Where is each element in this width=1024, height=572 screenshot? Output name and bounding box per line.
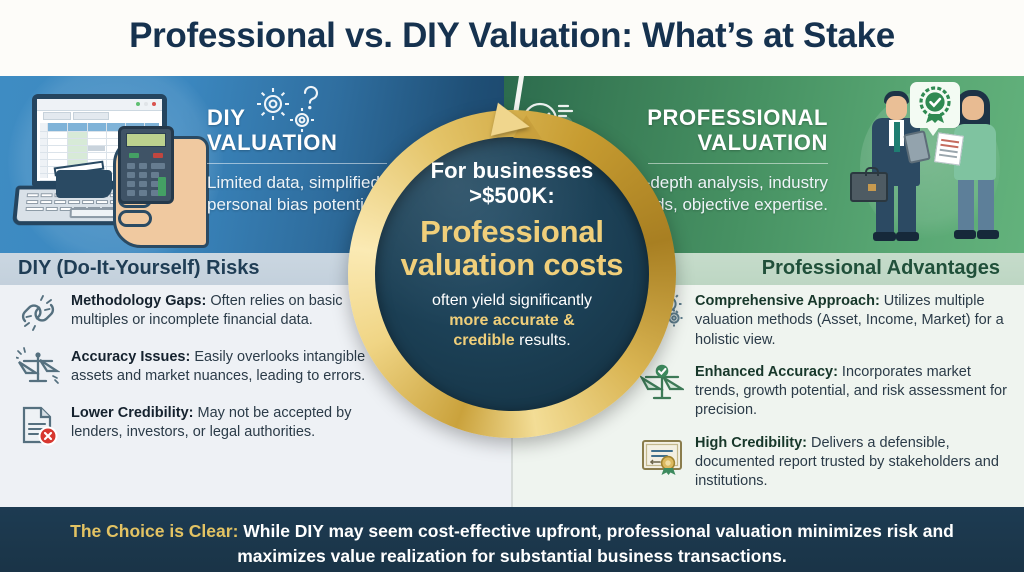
list-item: Enhanced Accuracy: Incorporates market t… bbox=[640, 362, 1012, 421]
pro-title-line2: VALUATION bbox=[698, 130, 828, 155]
infographic-canvas: Professional vs. DIY Valuation: What’s a… bbox=[0, 0, 1024, 572]
suit-sleeve bbox=[56, 170, 112, 198]
callout-tail1: often yield significantly bbox=[432, 292, 592, 309]
diy-title-line2: VALUATION bbox=[207, 130, 337, 155]
list-item-text: Methodology Gaps: Often relies on basic … bbox=[71, 291, 388, 335]
certified-badge-icon bbox=[910, 82, 960, 128]
callout-highlight2: valuation costs bbox=[401, 247, 624, 282]
list-item-text: Lower Credibility: May not be accepted b… bbox=[71, 403, 388, 447]
list-item: Lower Credibility: May not be accepted b… bbox=[16, 403, 388, 447]
callout-highlight1: Professional bbox=[420, 214, 604, 249]
callout-tail2: results. bbox=[515, 332, 571, 349]
laptop-titlebar bbox=[37, 99, 162, 111]
list-item-text: Enhanced Accuracy: Incorporates market t… bbox=[695, 362, 1012, 421]
briefcase-icon bbox=[850, 172, 888, 202]
banner-text: The Choice is Clear: While DIY may seem … bbox=[62, 519, 962, 569]
list-item-label: Enhanced Accuracy: bbox=[695, 364, 838, 380]
list-item-label: Lower Credibility: bbox=[71, 405, 193, 421]
report-document-icon bbox=[934, 132, 964, 165]
list-item: Methodology Gaps: Often relies on basic … bbox=[16, 291, 388, 335]
list-item: Accuracy Issues: Easily overlooks intang… bbox=[16, 347, 388, 391]
list-item-text: Comprehensive Approach: Utilizes multipl… bbox=[695, 291, 1012, 350]
list-item: Comprehensive Approach: Utilizes multipl… bbox=[640, 291, 1012, 350]
title-bar: Professional vs. DIY Valuation: What’s a… bbox=[0, 0, 1024, 76]
diy-title-line1: DIY bbox=[207, 105, 245, 130]
broken-chain-icon bbox=[16, 291, 60, 335]
list-item-label: Comprehensive Approach: bbox=[695, 293, 880, 309]
callout-accent1: more accurate & bbox=[449, 312, 574, 329]
list-item-label: Methodology Gaps: bbox=[71, 293, 206, 309]
business-people-icon bbox=[844, 80, 1020, 252]
callout-line1: For businesses bbox=[431, 158, 594, 183]
diy-risks-list: Methodology Gaps: Often relies on basic … bbox=[16, 291, 388, 459]
banner-lead: The Choice is Clear: bbox=[70, 521, 238, 541]
callout-text: For businesses >$500K: Professional valu… bbox=[388, 158, 636, 351]
list-item-label: Accuracy Issues: bbox=[71, 349, 190, 365]
bottom-banner: The Choice is Clear: While DIY may seem … bbox=[0, 507, 1024, 572]
arrow-right-icon bbox=[491, 103, 533, 144]
list-item: High Credibility: Delivers a defensible,… bbox=[640, 433, 1012, 492]
callout-line2: >$500K: bbox=[469, 183, 555, 208]
list-item-text: High Credibility: Delivers a defensible,… bbox=[695, 433, 1012, 492]
banner-body: While DIY may seem cost-effective upfron… bbox=[237, 521, 954, 566]
list-item-label: High Credibility: bbox=[695, 435, 807, 451]
document-error-icon bbox=[16, 403, 60, 447]
callout-accent2: credible bbox=[453, 332, 514, 349]
central-callout: For businesses >$500K: Professional valu… bbox=[348, 110, 676, 438]
calculator-icon bbox=[118, 126, 174, 204]
laptop-spreadsheet-icon bbox=[10, 84, 215, 250]
tilted-scales-icon bbox=[16, 347, 60, 391]
certificate-seal-icon bbox=[640, 433, 684, 477]
page-title: Professional vs. DIY Valuation: What’s a… bbox=[0, 16, 1024, 56]
list-item-text: Accuracy Issues: Easily overlooks intang… bbox=[71, 347, 388, 391]
advantages-heading: Professional Advantages bbox=[762, 257, 1000, 280]
diy-risks-heading: DIY (Do-It-Yourself) Risks bbox=[18, 257, 260, 280]
advantages-list: Comprehensive Approach: Utilizes multipl… bbox=[640, 291, 1012, 504]
laptop-trackpad bbox=[70, 208, 119, 218]
